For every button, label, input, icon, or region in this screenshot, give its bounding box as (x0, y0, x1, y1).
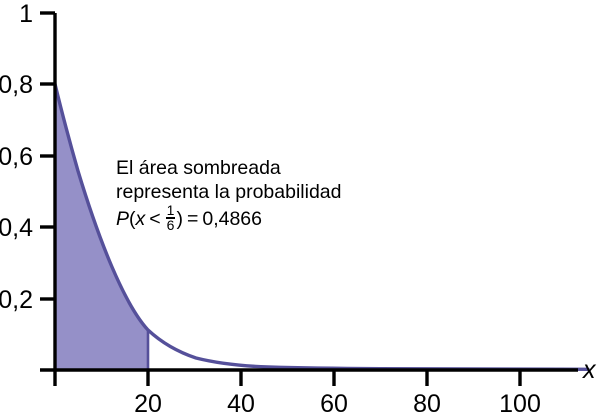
fraction-denominator: 6 (166, 219, 176, 232)
annotation-probability-expression: P(x<16)=0,4866 (116, 205, 386, 233)
x-axis-tick-labels: 20 40 60 80 100 (134, 390, 541, 418)
chart-annotation: El área sombreada representa la probabil… (116, 156, 386, 233)
y-tick-label-1: 1 (19, 0, 33, 28)
x-tick-label-20: 20 (134, 390, 162, 418)
random-variable-symbol: x (136, 208, 146, 230)
close-parenthesis: ) (176, 208, 183, 230)
y-tick-label-0-4: 0,4 (0, 214, 33, 242)
exponential-distribution-chart: 1 0,8 0,6 0,4 0,2 20 40 60 80 100 x El á… (0, 0, 602, 420)
y-tick-label-0-8: 0,8 (0, 71, 33, 99)
y-axis-ticks (40, 13, 55, 299)
less-than-operator: < (149, 208, 160, 230)
y-axis-tick-labels: 1 0,8 0,6 0,4 0,2 (0, 0, 33, 314)
y-tick-label-0-6: 0,6 (0, 143, 33, 171)
x-tick-label-80: 80 (413, 390, 441, 418)
y-tick-label-0-2: 0,2 (0, 286, 33, 314)
x-axis-ticks (55, 370, 520, 386)
annotation-line-2: representa la probabilidad (116, 180, 386, 204)
fraction-numerator: 1 (166, 204, 176, 217)
x-tick-label-60: 60 (320, 390, 348, 418)
equals-sign: = (187, 208, 198, 230)
probability-value: 0,4866 (202, 208, 262, 230)
x-axis-label: x (582, 356, 597, 384)
x-tick-label-40: 40 (227, 390, 255, 418)
probability-function-symbol: P (116, 208, 129, 230)
fraction-one-sixth: 16 (166, 204, 176, 232)
annotation-line-1: El área sombreada (116, 156, 386, 180)
x-tick-label-100: 100 (499, 390, 541, 418)
